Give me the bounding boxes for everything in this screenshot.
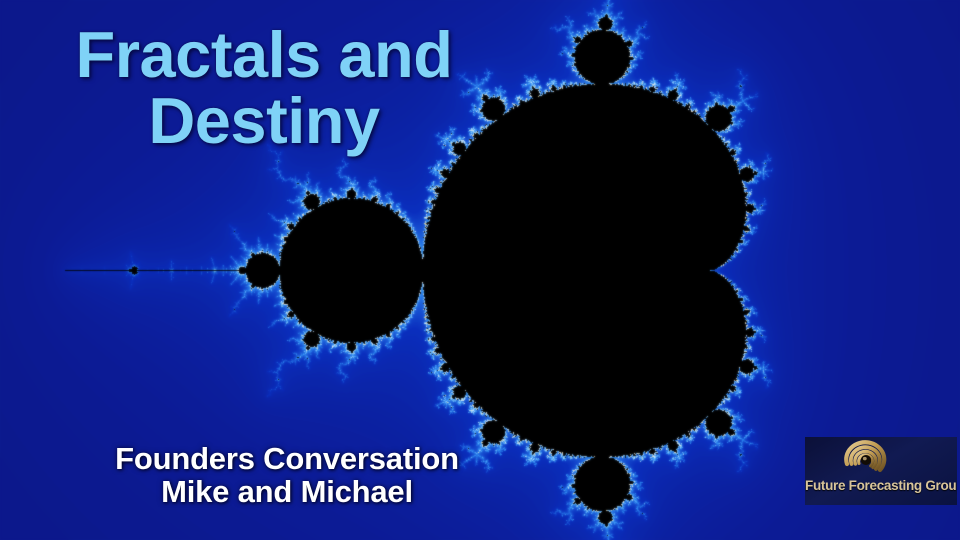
title-card-slide: Fractals and Destiny Founders Conversati… — [0, 0, 960, 540]
logo-caption: Future Forecasting Group — [805, 478, 957, 493]
golden-spiral-icon — [843, 440, 889, 478]
subtitle: Founders Conversation Mike and Michael — [62, 443, 512, 509]
subtitle-line-1: Founders Conversation — [62, 443, 512, 476]
subtitle-line-2: Mike and Michael — [62, 476, 512, 509]
brand-logo: Future Forecasting Group — [805, 437, 957, 505]
